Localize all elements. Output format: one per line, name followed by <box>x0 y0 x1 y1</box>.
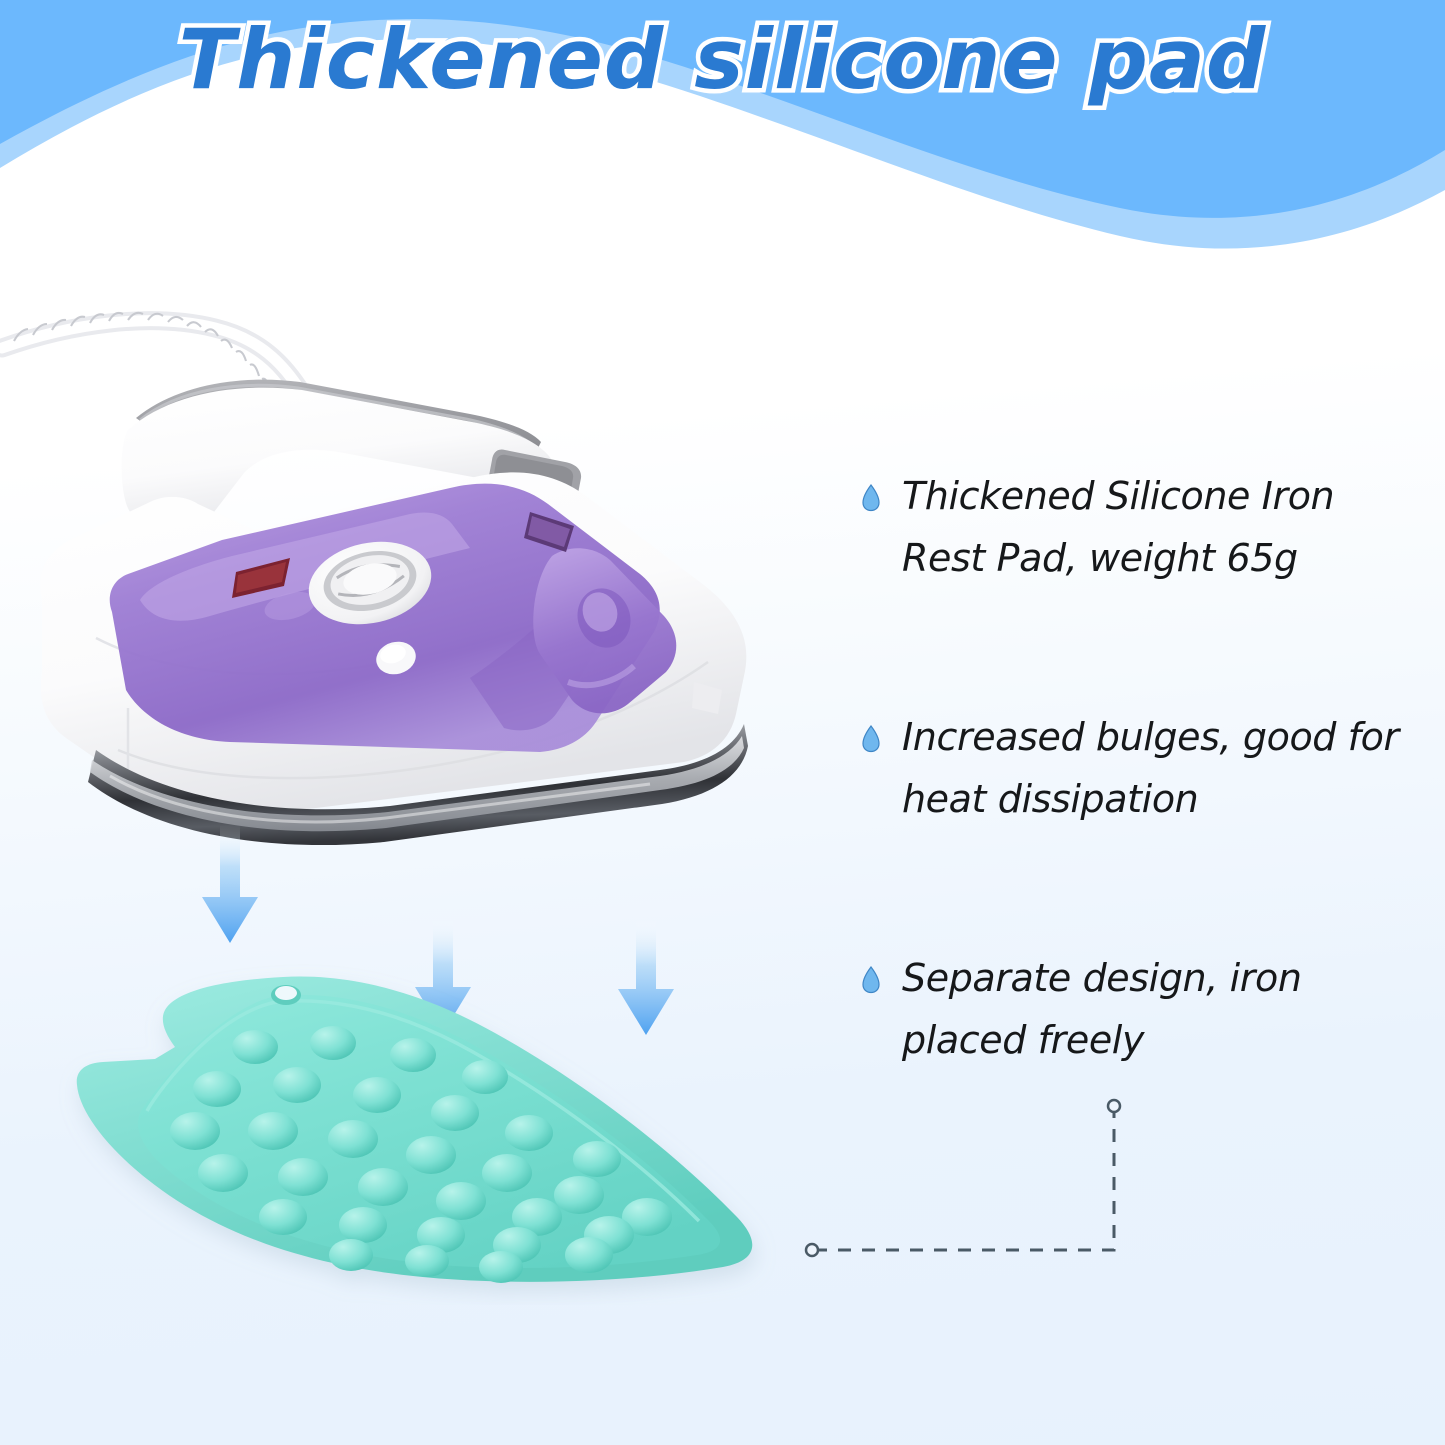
feature-item: Thickened Silicone Iron Rest Pad, weight… <box>862 466 1432 589</box>
water-drop-icon <box>862 484 880 512</box>
silicone-pad-illustration <box>55 955 855 1305</box>
arrow-down-1 <box>202 825 258 943</box>
callout-endpoint-end <box>1108 1100 1120 1112</box>
iron-illustration <box>0 290 830 910</box>
feature-item: Separate design, iron placed freely <box>862 948 1432 1071</box>
water-drop-icon <box>862 725 880 753</box>
feature-text: Separate design, iron placed freely <box>902 948 1422 1071</box>
feature-text: Thickened Silicone Iron Rest Pad, weight… <box>902 466 1422 589</box>
pad-hanging-hole <box>271 985 301 1005</box>
callout-dashed-path <box>814 1108 1114 1250</box>
header-wave-main <box>0 0 1445 218</box>
feature-item: Increased bulges, good for heat dissipat… <box>862 707 1432 830</box>
power-cord <box>2 313 300 391</box>
product-infographic: Thickened silicone pad <box>0 0 1445 1445</box>
feature-text: Increased bulges, good for heat dissipat… <box>902 707 1422 830</box>
header-banner: Thickened silicone pad <box>0 0 1445 250</box>
callout-endpoint-start <box>806 1244 818 1256</box>
water-drop-icon <box>862 966 880 994</box>
dimension-callout <box>780 1080 1180 1300</box>
feature-list: Thickened Silicone Iron Rest Pad, weight… <box>862 466 1432 1071</box>
